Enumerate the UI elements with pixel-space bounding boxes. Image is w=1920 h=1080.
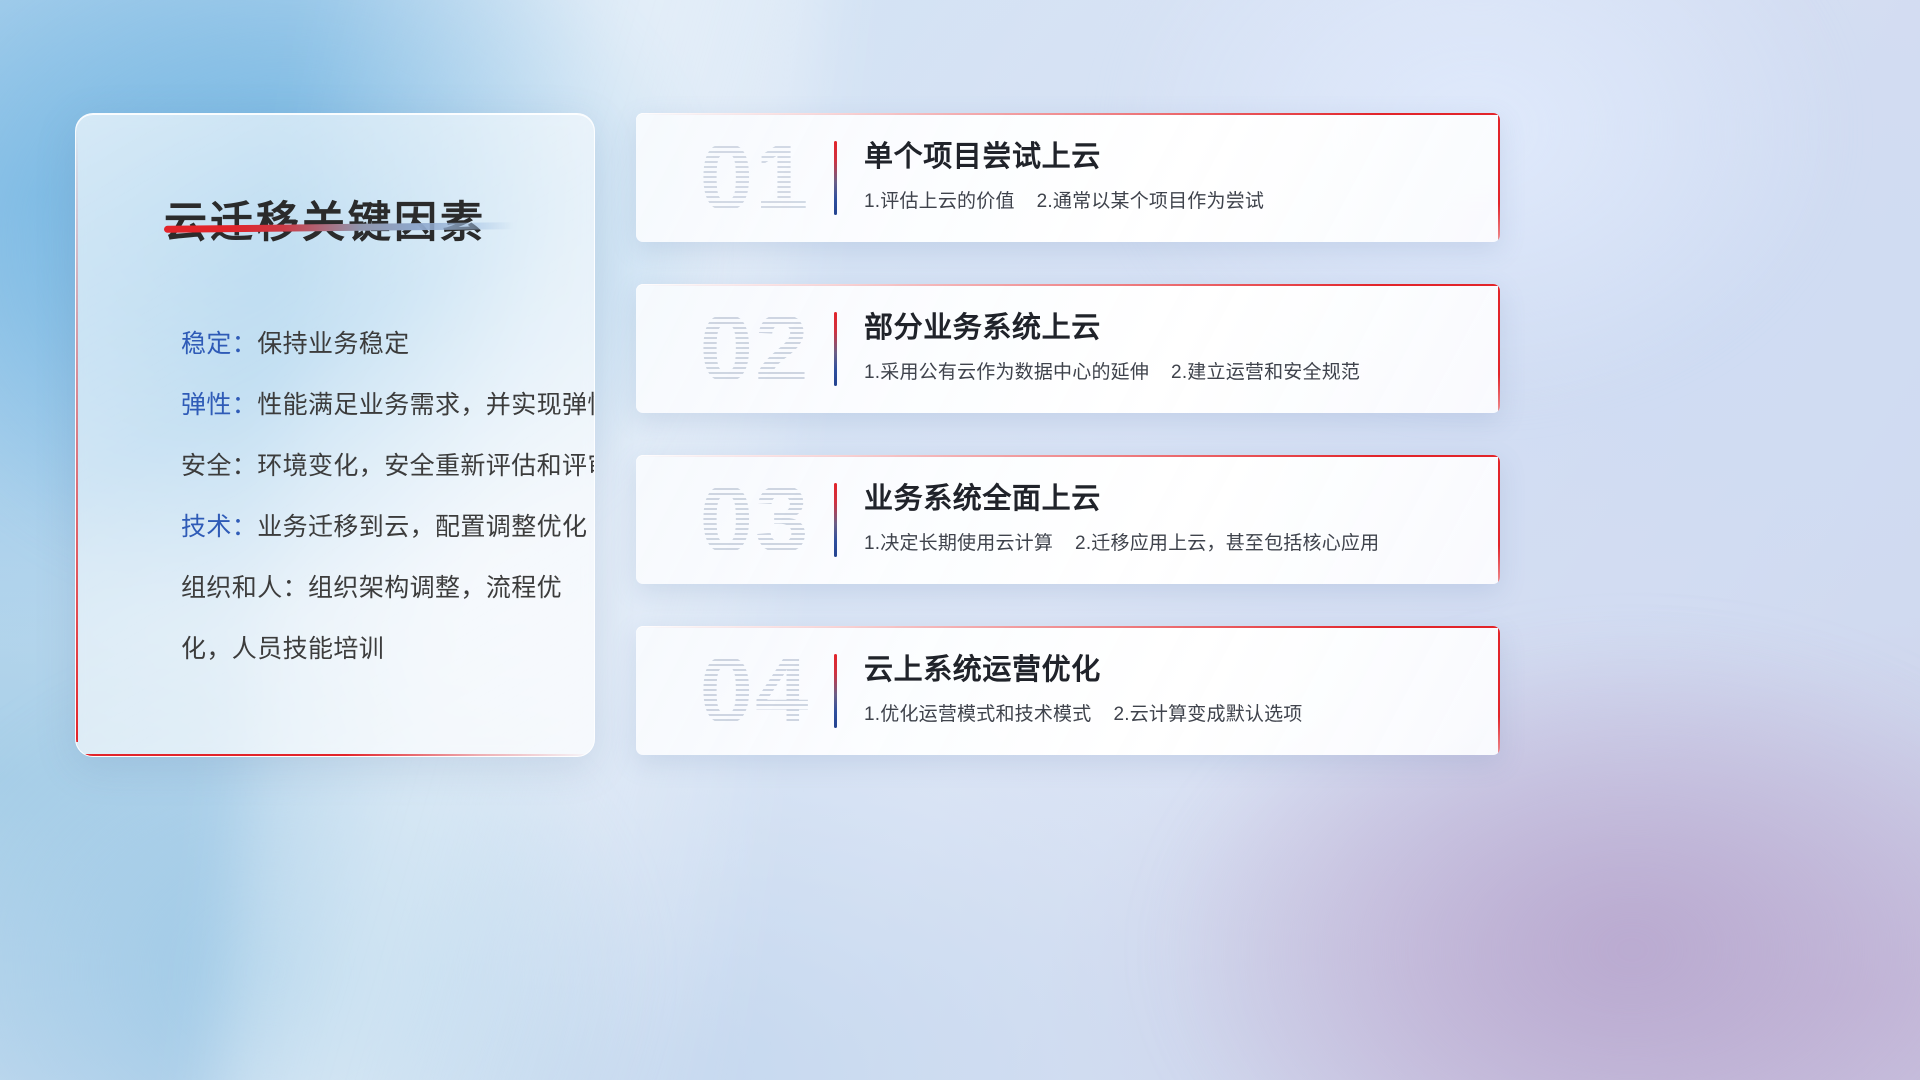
factor-label: 组织和人：: [181, 574, 308, 602]
step-title: 业务系统全面上云: [864, 480, 1474, 518]
list-item: 技术：业务迁移到云，配置调整优化: [181, 497, 568, 558]
factor-label: 稳定：: [181, 330, 257, 358]
step-number-01: 01: [660, 126, 850, 230]
list-item: 弹性：性能满足业务需求，并实现弹性: [181, 375, 568, 436]
step-accent-bar: [834, 654, 837, 728]
factor-text: 保持业务稳定: [257, 330, 409, 358]
step-point-1: 1.优化运营模式和技术模式: [864, 704, 1091, 725]
factor-label: 弹性：: [181, 391, 257, 419]
step-description: 1.优化运营模式和技术模式2.云计算变成默认选项: [864, 702, 1474, 728]
step-title: 部分业务系统上云: [864, 309, 1474, 347]
factor-list: 稳定：保持业务稳定 弹性：性能满足业务需求，并实现弹性 安全：环境变化，安全重新…: [181, 314, 568, 680]
step-card-02[interactable]: 02 部分业务系统上云 1.采用公有云作为数据中心的延伸2.建立运营和安全规范: [636, 284, 1500, 413]
step-point-2: 2.迁移应用上云，甚至包括核心应用: [1075, 533, 1379, 554]
step-number-03: 03: [660, 468, 850, 572]
step-description: 1.决定长期使用云计算2.迁移应用上云，甚至包括核心应用: [864, 531, 1474, 557]
step-point-2: 2.云计算变成默认选项: [1113, 704, 1302, 725]
page-title: 云迁移关键因素: [164, 188, 486, 250]
slide-stage: 云迁移关键因素 稳定：保持业务稳定 弹性：性能满足业务需求，并实现弹性 安全：环…: [0, 0, 1920, 1080]
step-point-1: 1.评估上云的价值: [864, 191, 1015, 212]
step-accent-bar: [834, 141, 837, 215]
factor-text: 性能满足业务需求，并实现弹性: [257, 391, 595, 419]
step-point-1: 1.决定长期使用云计算: [864, 533, 1053, 554]
step-point-1: 1.采用公有云作为数据中心的延伸: [864, 362, 1149, 383]
factor-label: 技术：: [181, 513, 257, 541]
step-content: 单个项目尝试上云 1.评估上云的价值2.通常以某个项目作为尝试: [864, 138, 1474, 215]
step-accent-bar: [834, 483, 837, 557]
step-description: 1.采用公有云作为数据中心的延伸2.建立运营和安全规范: [864, 360, 1474, 386]
step-accent-bar: [834, 312, 837, 386]
step-number-02: 02: [660, 297, 850, 401]
list-item: 安全：环境变化，安全重新评估和评审: [181, 436, 568, 497]
step-description: 1.评估上云的价值2.通常以某个项目作为尝试: [864, 189, 1474, 215]
factor-label: 安全：: [181, 452, 257, 480]
migration-steps-list: 01 单个项目尝试上云 1.评估上云的价值2.通常以某个项目作为尝试 02 部分…: [636, 113, 1500, 797]
step-title: 云上系统运营优化: [864, 651, 1474, 689]
step-title: 单个项目尝试上云: [864, 138, 1474, 176]
step-card-04[interactable]: 04 云上系统运营优化 1.优化运营模式和技术模式2.云计算变成默认选项: [636, 626, 1500, 755]
list-item: 稳定：保持业务稳定: [181, 314, 568, 375]
factor-text: 环境变化，安全重新评估和评审: [257, 452, 595, 480]
step-content: 部分业务系统上云 1.采用公有云作为数据中心的延伸2.建立运营和安全规范: [864, 309, 1474, 386]
step-content: 业务系统全面上云 1.决定长期使用云计算2.迁移应用上云，甚至包括核心应用: [864, 480, 1474, 557]
step-card-03[interactable]: 03 业务系统全面上云 1.决定长期使用云计算2.迁移应用上云，甚至包括核心应用: [636, 455, 1500, 584]
step-card-01[interactable]: 01 单个项目尝试上云 1.评估上云的价值2.通常以某个项目作为尝试: [636, 113, 1500, 242]
step-number-04: 04: [660, 639, 850, 743]
step-point-2: 2.通常以某个项目作为尝试: [1037, 191, 1264, 212]
step-point-2: 2.建立运营和安全规范: [1171, 362, 1360, 383]
factor-text: 业务迁移到云，配置调整优化: [257, 513, 587, 541]
key-factors-panel: 云迁移关键因素 稳定：保持业务稳定 弹性：性能满足业务需求，并实现弹性 安全：环…: [75, 113, 595, 757]
step-content: 云上系统运营优化 1.优化运营模式和技术模式2.云计算变成默认选项: [864, 651, 1474, 728]
list-item: 组织和人：组织架构调整，流程优化，人员技能培训: [181, 558, 568, 680]
